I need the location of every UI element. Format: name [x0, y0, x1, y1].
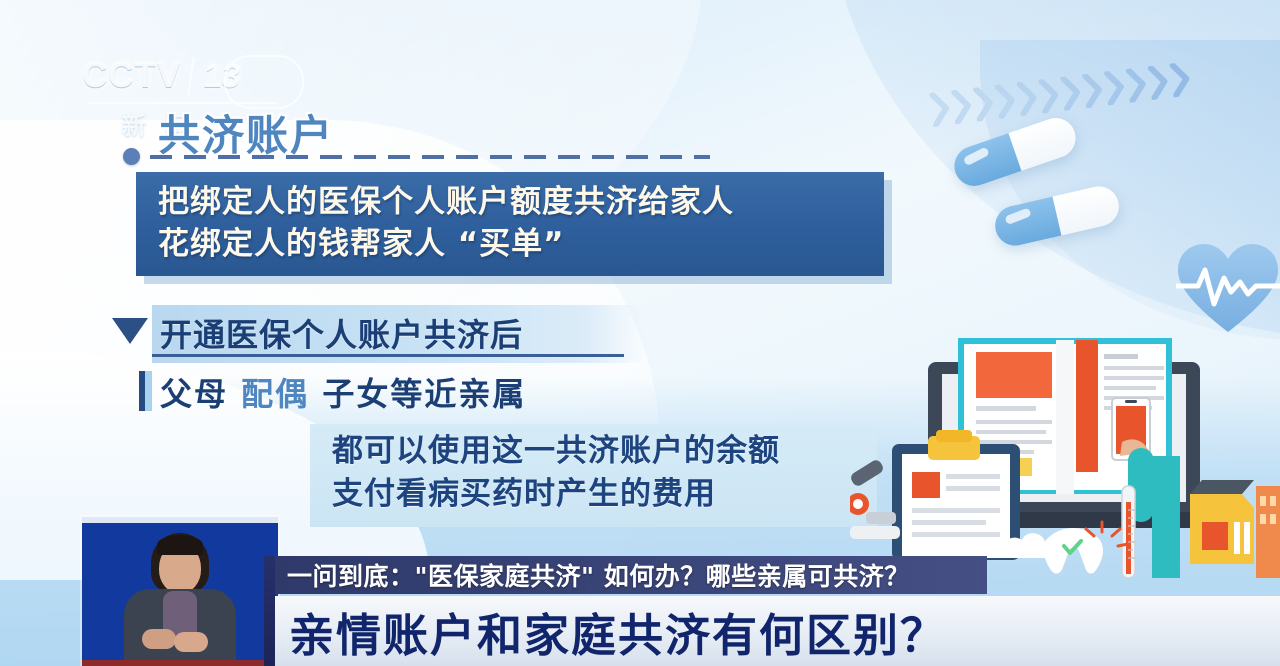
sign-language-interpreter-inset	[82, 517, 278, 666]
inset-bottom-edge	[82, 660, 278, 666]
dashed-divider	[150, 155, 710, 159]
navy-callout-box: 把绑定人的医保个人账户额度共济给家人 花绑定人的钱帮家人 “买单”	[136, 172, 884, 276]
highlight-band-text: 开通医保个人账户共济后	[160, 316, 523, 354]
kin-relations-row: 父母 配偶 子女等近亲属	[160, 369, 526, 415]
logo-ring-shape	[224, 55, 304, 109]
kin-part-2: 配偶	[241, 375, 309, 413]
inset-top-edge	[82, 517, 278, 523]
anchor-fringe	[157, 535, 203, 555]
cyan-callout-line-1: 都可以使用这一共济账户的余额	[332, 430, 859, 473]
lower-third-headline-bar: 亲情账户和家庭共济有何区别？	[275, 596, 1280, 666]
navy-callout-line-1: 把绑定人的医保个人账户额度共济给家人	[158, 181, 862, 223]
lower-third-headline-text: 亲情账户和家庭共济有何区别？	[275, 599, 947, 664]
anchor-hand-left	[142, 629, 176, 649]
medical-study-illustration	[850, 326, 1280, 578]
triangle-down-icon	[112, 318, 148, 344]
heart-ecg-icon	[1176, 242, 1280, 338]
kin-part-3: 子女等近亲属	[322, 375, 526, 413]
navy-callout-line-2: 花绑定人的钱帮家人 “买单”	[158, 223, 862, 265]
logo-cctv-text: CCTV	[82, 56, 181, 96]
cyan-callout-line-2: 支付看病买药时产生的费用	[332, 473, 859, 516]
lower-third-topic-bar: 一问到底："医保家庭共济" 如何办？哪些亲属可共济？	[275, 556, 987, 594]
cyan-callout-box: 都可以使用这一共济账户的余额 支付看病买药时产生的费用	[310, 424, 877, 527]
kin-part-1: 父母	[160, 375, 228, 413]
lower-third-topic-text: 一问到底："医保家庭共济" 如何办？哪些亲属可共济？	[275, 557, 910, 593]
highlight-band-underline	[152, 354, 624, 357]
kin-accent-bar	[139, 371, 152, 411]
broadcast-frame: CCTV 13 新 闻 共济账户 把绑定人的医保个人账户额度共济给家人 花绑定人…	[0, 0, 1280, 666]
slide-kicker-title: 共济账户	[158, 102, 334, 163]
anchor-hand-right	[174, 632, 208, 652]
bullet-dot-icon	[123, 148, 140, 165]
